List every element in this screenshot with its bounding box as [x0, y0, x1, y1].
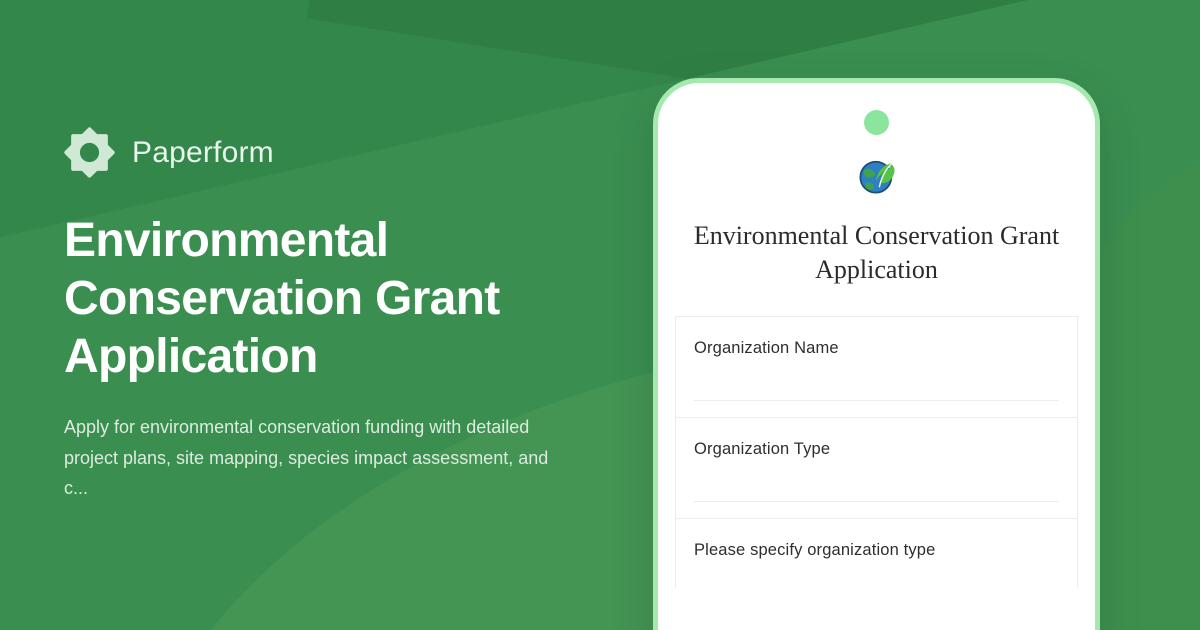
- brand-name: Paperform: [132, 136, 274, 170]
- form-title: Environmental Conservation Grant Applica…: [658, 195, 1095, 288]
- form-fields: Organization Name Organization Type Plea…: [658, 316, 1095, 588]
- brand-lockup: Paperform: [64, 127, 624, 178]
- page-description: Apply for environmental conservation fun…: [64, 412, 576, 503]
- organization-type-input[interactable]: [694, 459, 1059, 502]
- form-field-organization-type[interactable]: Organization Type: [675, 417, 1078, 518]
- form-field-specify-organization-type[interactable]: Please specify organization type: [675, 518, 1078, 588]
- globe-leaf-icon: [858, 157, 896, 195]
- field-label: Please specify organization type: [694, 541, 1059, 560]
- paperform-star-logo-icon: [64, 127, 115, 178]
- page-title: Environmental Conservation Grant Applica…: [64, 212, 604, 386]
- camera-dot-icon: [864, 110, 889, 135]
- organization-name-input[interactable]: [694, 358, 1059, 401]
- phone-mockup: Environmental Conservation Grant Applica…: [653, 78, 1100, 630]
- field-label: Organization Name: [694, 339, 1059, 358]
- form-field-organization-name[interactable]: Organization Name: [675, 316, 1078, 417]
- hero-content: Paperform Environmental Conservation Gra…: [64, 0, 624, 630]
- field-label: Organization Type: [694, 440, 1059, 459]
